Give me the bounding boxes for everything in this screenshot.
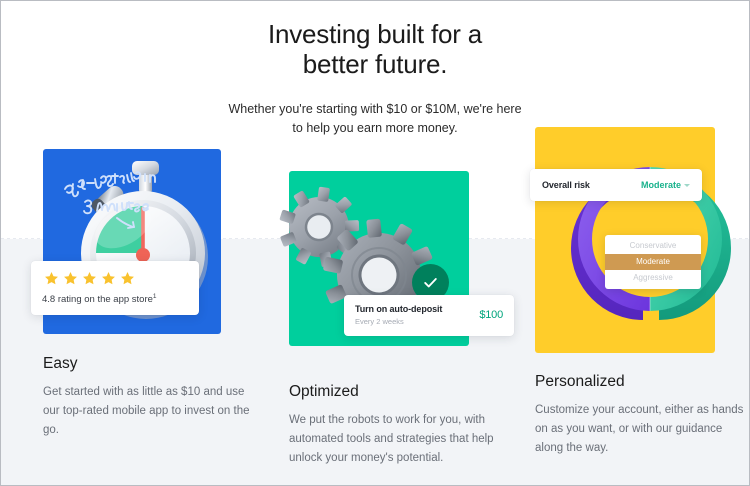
handwritten-annotation	[61, 171, 165, 229]
risk-option-moderate[interactable]: Moderate	[605, 254, 701, 270]
feature-column-easy: 4.8 rating on the app store1 Easy Get st…	[43, 149, 253, 440]
page-title: Investing built for a better future.	[1, 19, 749, 79]
gears-illustration: Turn on auto-deposit Every 2 weeks $100	[289, 171, 469, 346]
rating-caption-text: 4.8 rating on the app store	[42, 294, 153, 305]
feature-body-personalized: Customize your account, either as hands …	[535, 401, 747, 458]
check-icon	[422, 274, 439, 291]
hero-subtitle-line-1: Whether you're starting with $10 or $10M…	[228, 102, 521, 116]
feature-title-optimized: Optimized	[289, 382, 501, 402]
overall-risk-card[interactable]: Overall risk Moderate	[530, 169, 702, 201]
star-icon	[101, 271, 116, 286]
auto-deposit-amount: $100	[479, 309, 503, 321]
star-icon	[44, 271, 59, 286]
feature-text-personalized: Personalized Customize your account, eit…	[535, 372, 747, 458]
risk-level-dropdown[interactable]: Conservative Moderate Aggressive	[605, 235, 701, 289]
feature-column-personalized: Overall risk Moderate Conservative Moder…	[535, 127, 747, 458]
feature-text-easy: Easy Get started with as little as $10 a…	[43, 354, 253, 440]
page-title-line-1: Investing built for a	[268, 19, 482, 49]
auto-deposit-frequency: Every 2 weeks	[355, 316, 442, 327]
rating-caption: 4.8 rating on the app store1	[42, 291, 188, 306]
auto-deposit-title: Turn on auto-deposit	[355, 303, 442, 315]
star-icon	[63, 271, 78, 286]
star-icon	[120, 271, 135, 286]
overall-risk-value[interactable]: Moderate	[641, 180, 690, 190]
feature-title-personalized: Personalized	[535, 372, 747, 392]
auto-deposit-text: Turn on auto-deposit Every 2 weeks	[355, 303, 442, 327]
overall-risk-value-text: Moderate	[641, 180, 681, 190]
feature-column-optimized: Turn on auto-deposit Every 2 weeks $100 …	[289, 171, 501, 468]
feature-body-optimized: We put the robots to work for you, with …	[289, 411, 501, 468]
hero-section: Investing built for a better future. Whe…	[1, 19, 749, 138]
feature-text-optimized: Optimized We put the robots to work for …	[289, 382, 501, 468]
overall-risk-label: Overall risk	[542, 180, 590, 190]
handwriting-graphic	[61, 171, 165, 229]
footnote-marker: 1	[153, 293, 157, 300]
donut-chart-illustration: Overall risk Moderate Conservative Moder…	[535, 127, 715, 353]
risk-option-conservative[interactable]: Conservative	[605, 238, 701, 254]
app-store-rating-card: 4.8 rating on the app store1	[31, 261, 199, 315]
star-icon	[82, 271, 97, 286]
hero-subtitle-line-2: to help you earn more money.	[292, 121, 457, 135]
risk-option-aggressive[interactable]: Aggressive	[605, 270, 701, 286]
chevron-down-icon	[684, 184, 690, 187]
page-title-line-2: better future.	[303, 49, 448, 79]
auto-deposit-card[interactable]: Turn on auto-deposit Every 2 weeks $100	[344, 295, 514, 336]
hero-subtitle: Whether you're starting with $10 or $10M…	[225, 100, 525, 138]
star-rating	[44, 271, 188, 286]
stopwatch-illustration: 4.8 rating on the app store1	[43, 149, 221, 334]
feature-title-easy: Easy	[43, 354, 253, 374]
landing-page: Investing built for a better future. Whe…	[0, 0, 750, 486]
feature-body-easy: Get started with as little as $10 and us…	[43, 383, 253, 440]
